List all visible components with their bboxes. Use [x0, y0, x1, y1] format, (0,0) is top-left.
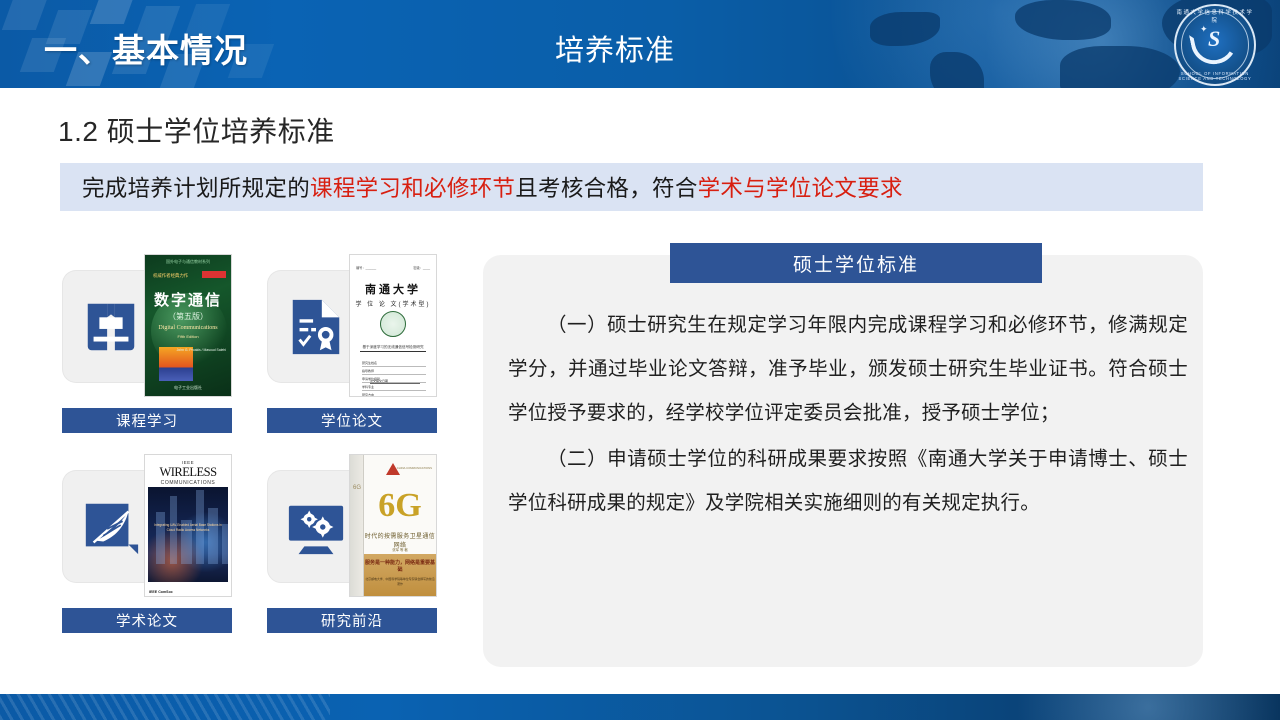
- header-page-title: 培养标准: [555, 27, 675, 69]
- thesis-university: 南通大学: [350, 281, 436, 297]
- highlight-banner: 完成培养计划所规定的课程学习和必修环节且考核合格，符合学术与学位论文要求: [60, 163, 1203, 211]
- banner-part2: 且考核合格，符合: [515, 176, 697, 201]
- card-degree-thesis[interactable]: 编号：______密级：____ 南通大学 学 位 论 文(学术型) 基于深度学…: [267, 250, 437, 400]
- banner-highlight1: 课程学习和必修环节: [310, 176, 515, 201]
- journal-article-title: Integrating UAV-Enabled Aerial Base Stat…: [154, 523, 222, 533]
- slide-footer: [0, 694, 1280, 720]
- thesis-topic: 基于深度学习的无线通信信号检测研究: [360, 345, 426, 352]
- digital-communications-book-cover: 国外电子与通信教材系列 权威作者经典力作 数字通信 （第五版） Digital …: [144, 254, 232, 397]
- card-thumb-area: IEEE WIRELESS COMMUNICATIONS Integrating…: [62, 450, 232, 600]
- monitor-gears-icon: [285, 495, 347, 559]
- card-thumb-area: 编号：______密级：____ 南通大学 学 位 论 文(学术型) 基于深度学…: [267, 250, 437, 400]
- logo-monogram: S: [1208, 26, 1220, 52]
- panel-tab-master-degree-standard: 硕士学位标准: [670, 243, 1042, 283]
- book-authors: John G. Proakis / Masoud Salehi: [177, 347, 226, 353]
- panel-paragraph-1: （一）硕士研究生在规定学习年限内完成课程学习和必修环节，修满规定学分，并通过毕业…: [508, 303, 1188, 435]
- book-band1: 服务是一种能力，网络是重要基础: [364, 554, 436, 573]
- book-series: 国外电子与通信教材系列: [145, 259, 231, 265]
- page-title: 1.2 硕士学位培养标准: [58, 110, 335, 150]
- nantong-university-thesis-cover: 编号：______密级：____ 南通大学 学 位 论 文(学术型) 基于深度学…: [349, 254, 437, 397]
- card-label-academic-paper[interactable]: 学术论文: [62, 608, 232, 633]
- panel-paragraph-2: （二）申请硕士学位的科研成果要求按照《南通大学关于申请博士、硕士学位科研成果的规…: [508, 437, 1188, 525]
- journal-footer: IEEE ComSoc: [149, 590, 173, 594]
- card-label-course-study[interactable]: 课程学习: [62, 408, 232, 433]
- card-academic-paper[interactable]: IEEE WIRELESS COMMUNICATIONS Integrating…: [62, 450, 232, 600]
- book-banner: 权威作者经典力作: [153, 273, 188, 279]
- book-icon: [80, 295, 142, 359]
- banner-part1: 完成培养计划所规定的: [82, 176, 310, 201]
- card-grid: 国外电子与通信教材系列 权威作者经典力作 数字通信 （第五版） Digital …: [62, 250, 457, 635]
- thesis-seal: [380, 311, 406, 337]
- banner-text: 完成培养计划所规定的课程学习和必修环节且考核合格，符合学术与学位论文要求: [60, 171, 903, 203]
- book-edition-en: Fifth Edition: [145, 334, 231, 339]
- logo-star-icon: ✦: [1200, 24, 1208, 35]
- card-thumb-area: 6G CHINA COMMUNICATIONS 6G 时代的按需服务卫星通信网络…: [267, 450, 437, 600]
- ieee-wireless-communications-cover: IEEE WIRELESS COMMUNICATIONS Integrating…: [144, 454, 232, 597]
- journal-title2: COMMUNICATIONS: [145, 480, 231, 486]
- book-big-title: 6G: [364, 487, 436, 525]
- banner-highlight2: 学术与学位论文要求: [698, 176, 903, 201]
- header-section-title: 一、基本情况: [44, 24, 248, 72]
- 6g-book-cover: 6G CHINA COMMUNICATIONS 6G 时代的按需服务卫星通信网络…: [349, 454, 437, 597]
- footer-stripe-pattern: [0, 694, 330, 720]
- book-press: 电子工业出版社: [145, 385, 231, 391]
- certificate-document-icon: [285, 295, 347, 359]
- thesis-footer: 论文提交日期: [370, 379, 420, 384]
- quill-pen-icon: [80, 495, 142, 559]
- panel-body: （一）硕士研究生在规定学习年限内完成课程学习和必修环节，修满规定学分，并通过毕业…: [508, 303, 1188, 525]
- card-research-frontier[interactable]: 6G CHINA COMMUNICATIONS 6G 时代的按需服务卫星通信网络…: [267, 450, 437, 600]
- book-title-en: Digital Communications: [145, 325, 231, 331]
- book-spine: 6G: [353, 485, 361, 491]
- book-edition-cn: （第五版）: [145, 311, 231, 322]
- book-authors: 张军 等 著: [364, 547, 436, 552]
- card-label-research-frontier[interactable]: 研究前沿: [267, 608, 437, 633]
- footer-glow-graphic: [950, 694, 1280, 720]
- journal-title1: WIRELESS: [145, 465, 231, 480]
- thesis-subtitle: 学 位 论 文(学术型): [350, 299, 436, 308]
- book-title-cn: 数字通信: [145, 289, 231, 310]
- card-label-degree-thesis[interactable]: 学位论文: [267, 408, 437, 433]
- logo-chinese-text: 南通大学信息科学技术学院: [1174, 8, 1256, 24]
- card-thumb-area: 国外电子与通信教材系列 权威作者经典力作 数字通信 （第五版） Digital …: [62, 250, 232, 400]
- slide-root: 一、基本情况 培养标准 南通大学信息科学技术学院 S ✦ SCHOOL OF I…: [0, 0, 1280, 720]
- school-logo: 南通大学信息科学技术学院 S ✦ SCHOOL OF INFORMATION S…: [1174, 4, 1256, 86]
- book-band2: 北京邮电大学、中国科学院等单位专家联合撰写的前沿著作: [364, 573, 436, 587]
- slide-header: 一、基本情况 培养标准 南通大学信息科学技术学院 S ✦ SCHOOL OF I…: [0, 0, 1280, 88]
- card-course-study[interactable]: 国外电子与通信教材系列 权威作者经典力作 数字通信 （第五版） Digital …: [62, 250, 232, 400]
- logo-english-text: SCHOOL OF INFORMATION SCIENCE AND TECHNO…: [1174, 71, 1256, 81]
